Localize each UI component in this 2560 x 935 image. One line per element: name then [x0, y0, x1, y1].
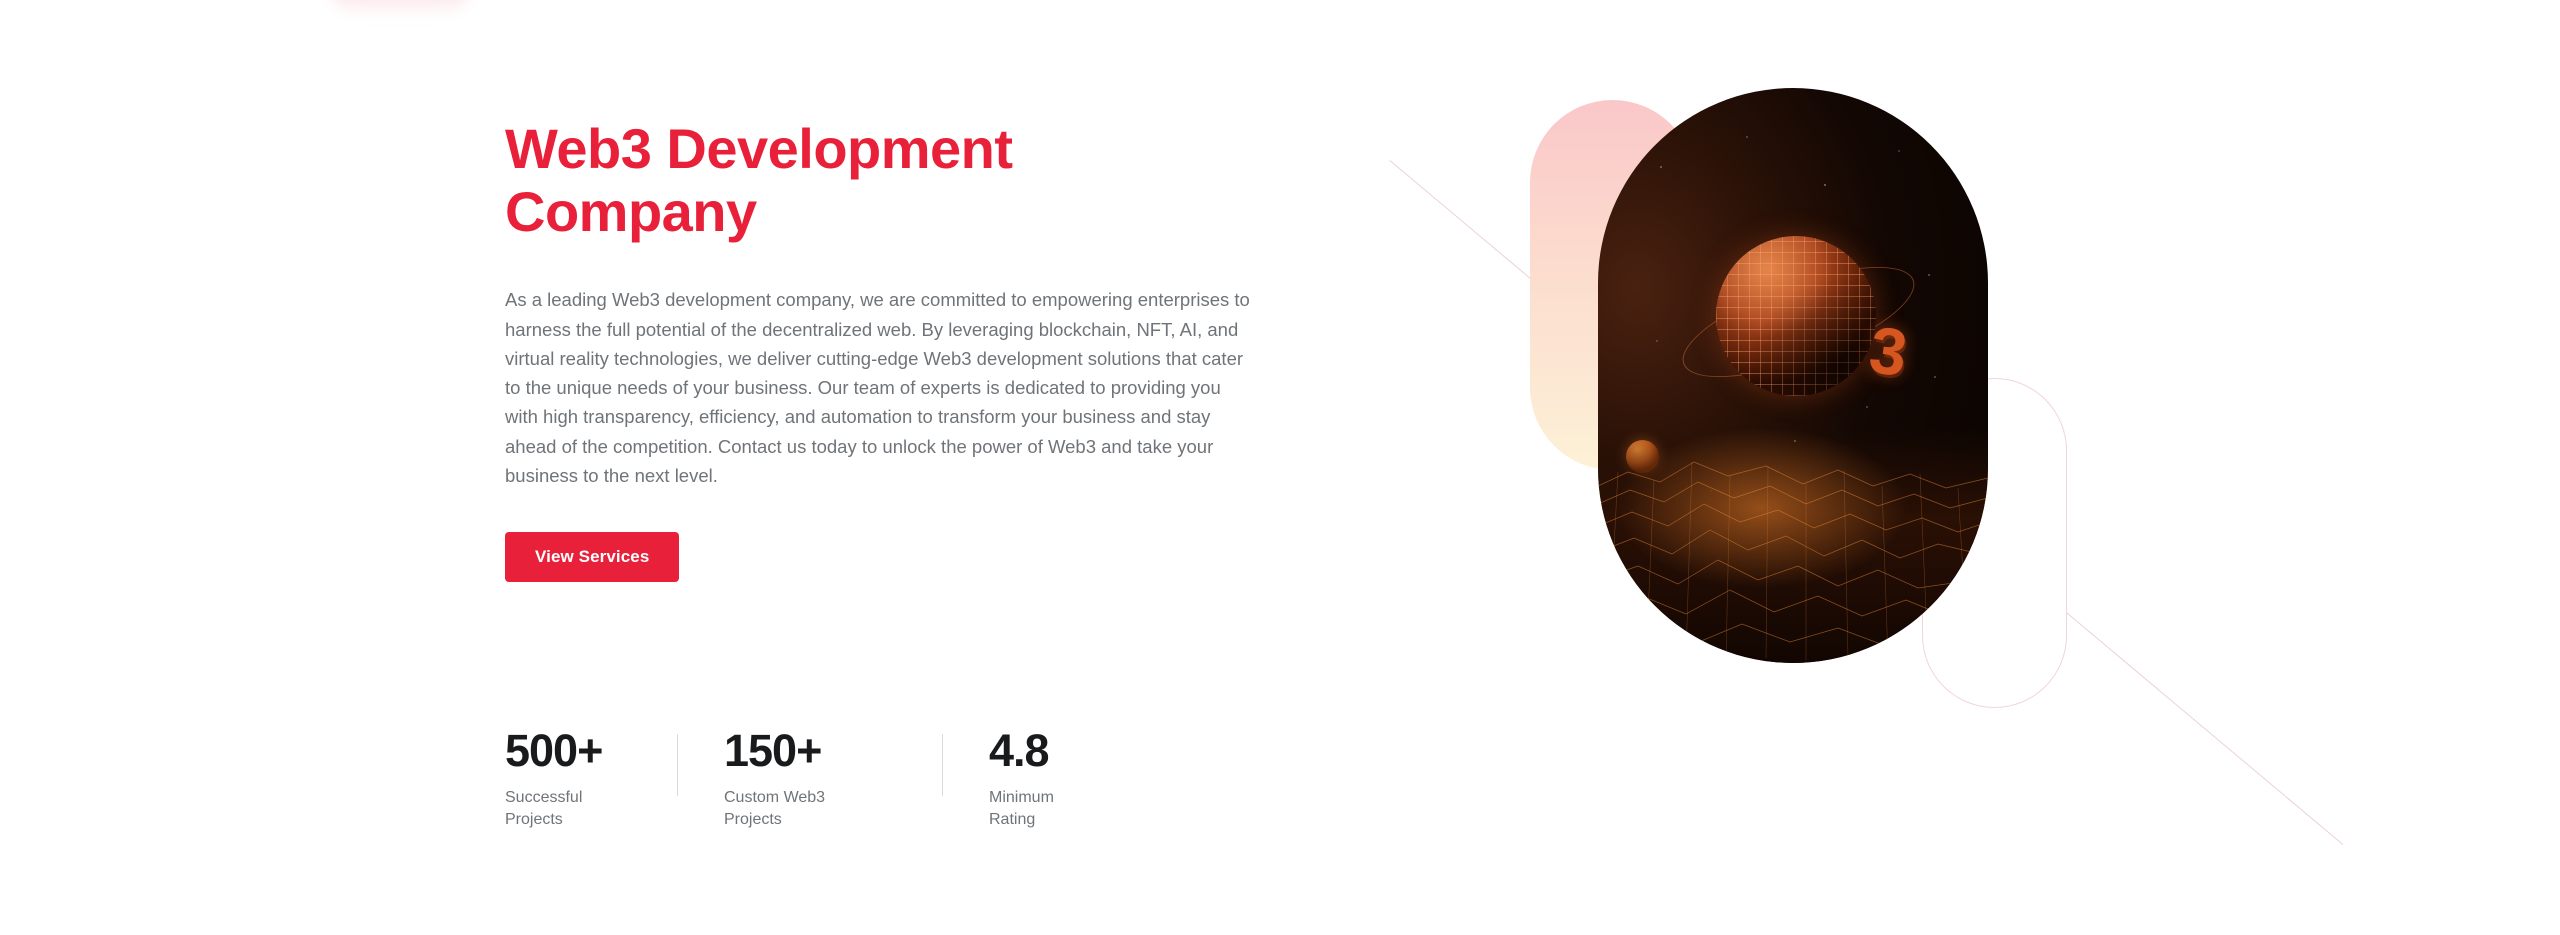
stat-value: 4.8	[989, 728, 1207, 773]
view-services-button[interactable]: View Services	[505, 532, 679, 582]
stat-value: 500+	[505, 728, 677, 773]
stat-item: 500+ Successful Projects	[505, 728, 677, 831]
hero-artwork: 3	[1380, 40, 2380, 860]
stat-divider	[677, 734, 678, 796]
stat-divider	[942, 734, 943, 796]
stat-item: 4.8 Minimum Rating	[989, 728, 1207, 831]
stat-label: Minimum Rating	[989, 787, 1207, 831]
decorative-top-shape	[330, 0, 470, 16]
stat-item: 150+ Custom Web3 Projects	[724, 728, 942, 831]
stat-value: 150+	[724, 728, 942, 773]
stat-label: Successful Projects	[505, 787, 677, 831]
wireframe-planet-icon	[1716, 236, 1876, 396]
hero-text-column: Web3 Development Company As a leading We…	[505, 118, 1265, 582]
page-title: Web3 Development Company	[505, 118, 1265, 243]
stats-row: 500+ Successful Projects 150+ Custom Web…	[505, 728, 1207, 831]
space-illustration: 3	[1598, 88, 1988, 663]
hero-description: As a leading Web3 development company, w…	[505, 285, 1250, 490]
hero-section: Web3 Development Company As a leading We…	[0, 0, 2560, 935]
stat-label: Custom Web3 Projects	[724, 787, 942, 831]
wireframe-terrain	[1598, 428, 1988, 663]
